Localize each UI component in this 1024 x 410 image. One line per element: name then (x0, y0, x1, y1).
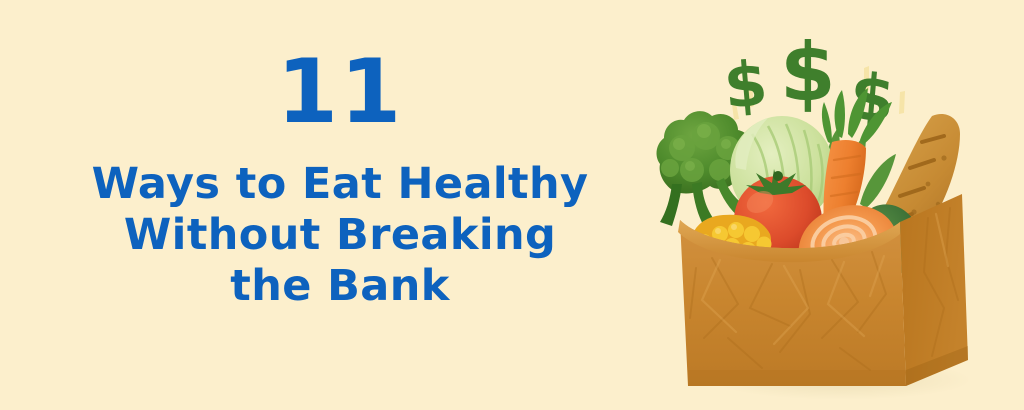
headline-line-3: the Bank (40, 261, 640, 312)
headline-block: 11 Ways to Eat Healthy Without Breaking … (40, 52, 640, 312)
dollar-sign-icon-2: $ (780, 26, 836, 119)
grocery-bag-illustration: $ $ $ (632, 8, 1024, 410)
headline-line-1: Ways to Eat Healthy (40, 159, 640, 210)
headline-text: Ways to Eat Healthy Without Breaking the… (40, 159, 640, 312)
headline-line-2: Without Breaking (40, 210, 640, 261)
dollar-sign-icon-1: $ (721, 46, 770, 122)
promo-banner: 11 Ways to Eat Healthy Without Breaking … (0, 0, 1024, 410)
headline-number: 11 (40, 52, 640, 133)
